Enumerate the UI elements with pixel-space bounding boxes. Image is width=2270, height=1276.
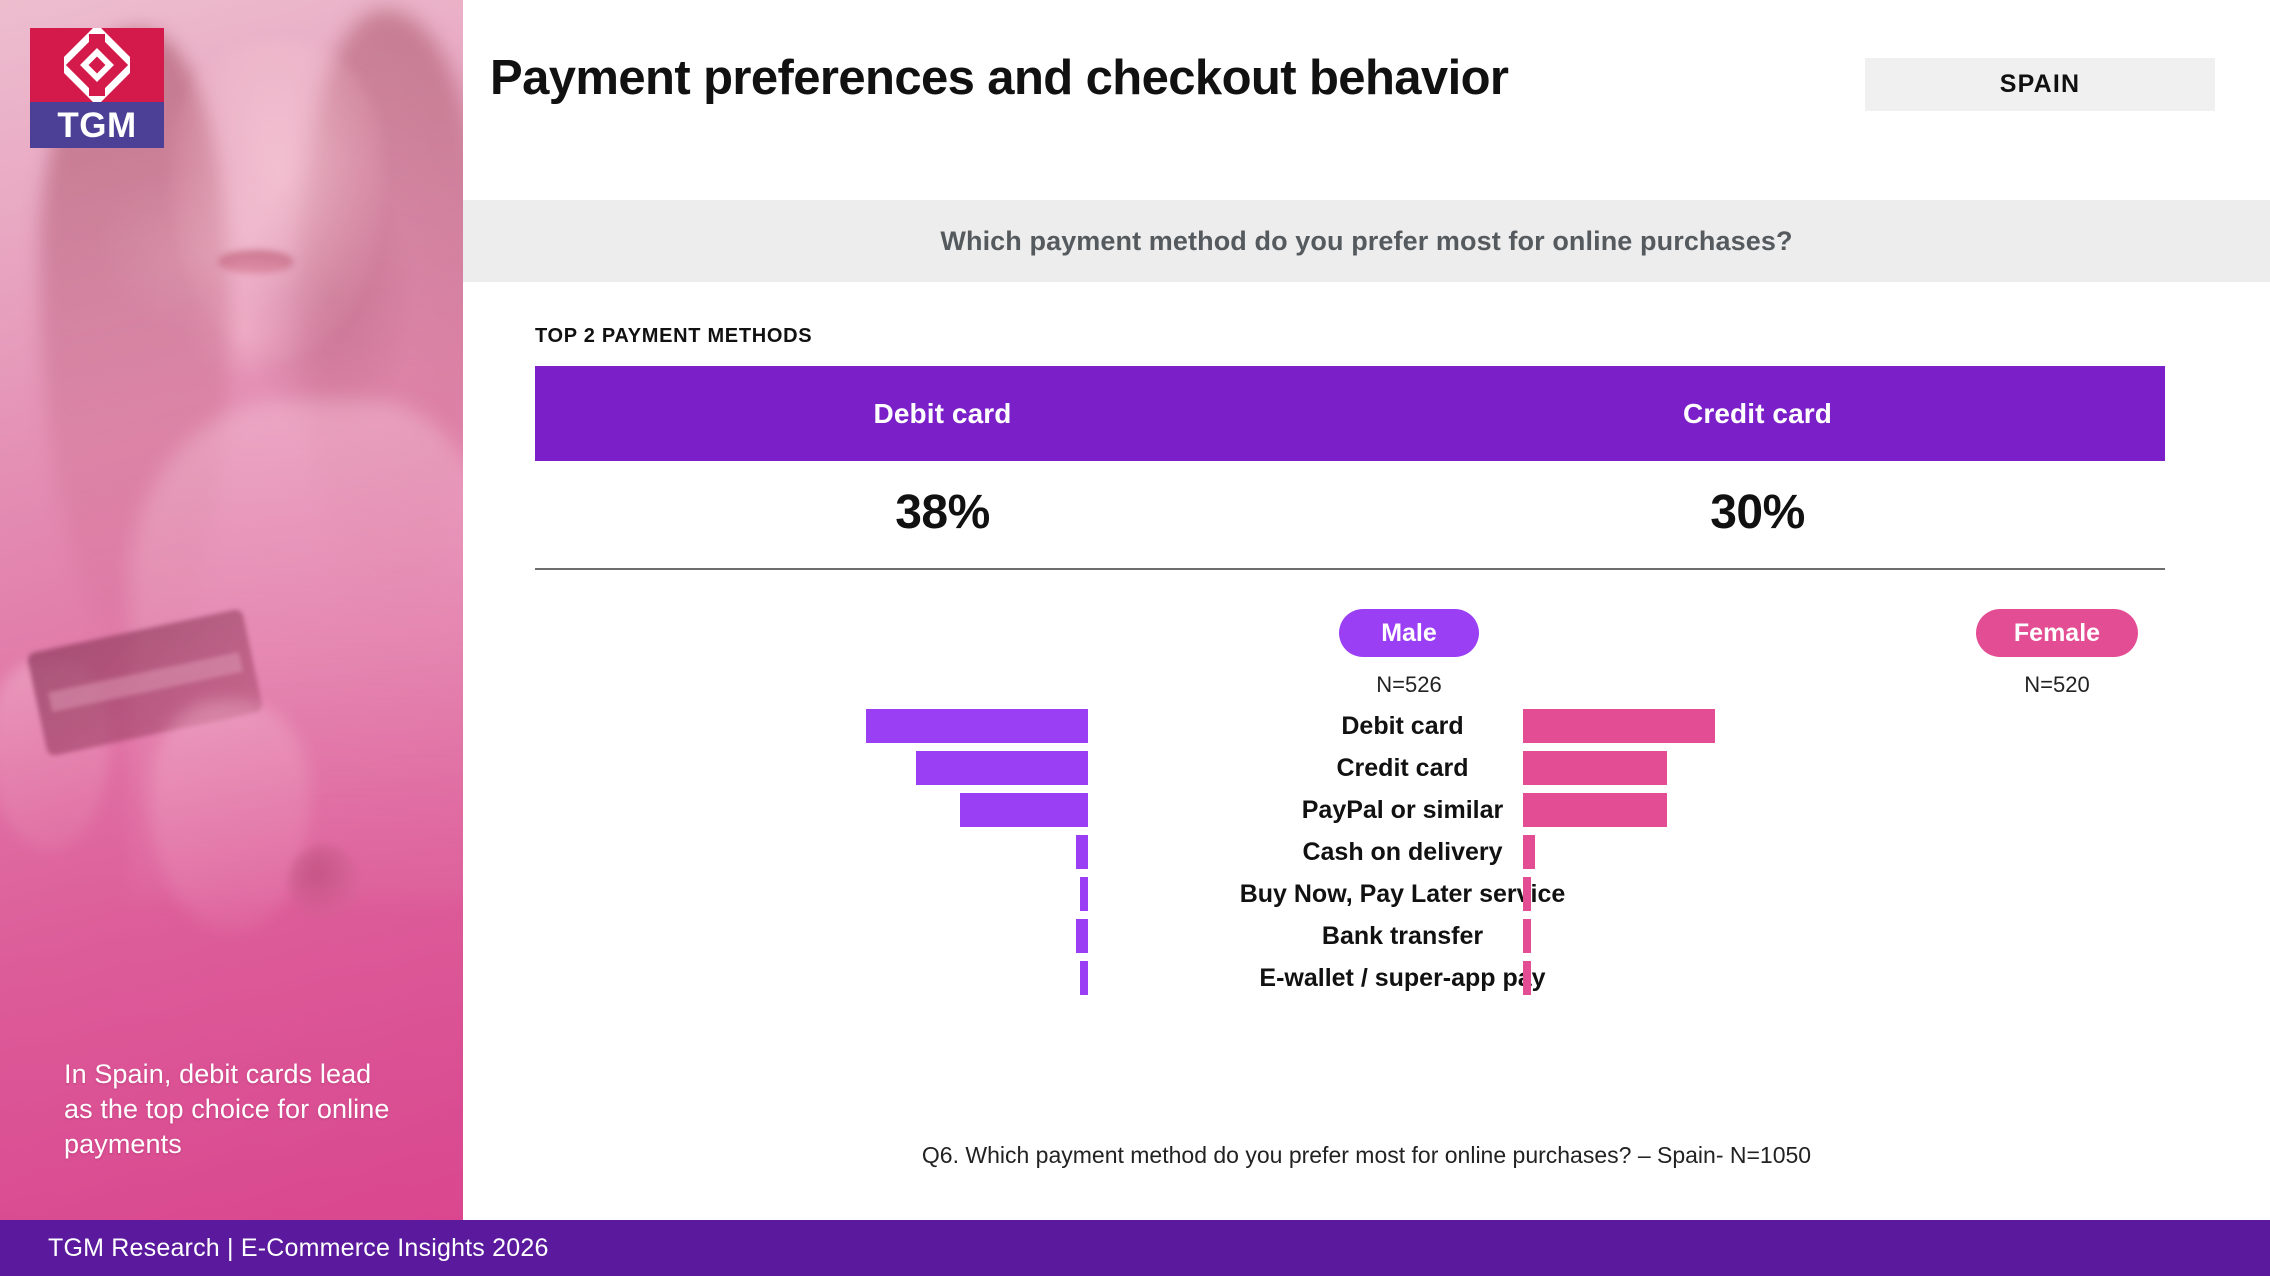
logo-emblem-box xyxy=(30,28,164,102)
bar-male xyxy=(960,793,1088,827)
bar-male xyxy=(916,751,1088,785)
chart-row: Cash on delivery xyxy=(463,831,2270,873)
bar-female xyxy=(1523,919,1531,953)
bar-female-wrap xyxy=(1523,705,1715,747)
bar-male-wrap xyxy=(1080,873,1088,915)
source-note: Q6. Which payment method do you prefer m… xyxy=(463,1142,2270,1169)
top2-cell-1: Debit card xyxy=(535,366,1350,461)
logo-wordmark-box: TGM xyxy=(30,102,164,148)
photo-pink-overlay xyxy=(0,0,463,1220)
top2-value-cell-2: 30% xyxy=(1350,471,2165,553)
bar-male xyxy=(1080,961,1088,995)
bar-female-wrap xyxy=(1523,789,1667,831)
bar-female xyxy=(1523,835,1535,869)
chart-category-label: Cash on delivery xyxy=(1100,831,1705,873)
chart-category-label: E-wallet / super-app pay xyxy=(1100,957,1705,999)
logo-notch-top xyxy=(89,34,105,43)
bar-male xyxy=(1080,877,1088,911)
legend-female-n: N=520 xyxy=(1976,672,2138,698)
bar-female-wrap xyxy=(1523,915,1531,957)
bar-male-wrap xyxy=(866,705,1088,747)
top2-cell-2: Credit card xyxy=(1350,366,2165,461)
bar-female xyxy=(1523,877,1531,911)
bar-male xyxy=(1076,835,1088,869)
footer-text: TGM Research | E-Commerce Insights 2026 xyxy=(48,1234,549,1263)
question-text: Which payment method do you prefer most … xyxy=(940,226,1792,257)
main-content: Payment preferences and checkout behavio… xyxy=(463,0,2270,1220)
logo-notch-bottom xyxy=(89,87,105,96)
bar-male-wrap xyxy=(1076,831,1088,873)
bar-female-wrap xyxy=(1523,957,1531,999)
chart-category-label: Bank transfer xyxy=(1100,915,1705,957)
bar-female-wrap xyxy=(1523,873,1531,915)
question-band: Which payment method do you prefer most … xyxy=(463,200,2270,282)
bar-male-wrap xyxy=(916,747,1088,789)
tornado-chart: Debit cardCredit cardPayPal or similarCa… xyxy=(463,705,2270,1105)
left-panel-caption: In Spain, debit cards lead as the top ch… xyxy=(64,1057,404,1162)
chart-row: Credit card xyxy=(463,747,2270,789)
country-badge-label: SPAIN xyxy=(2000,70,2081,99)
bar-male-wrap xyxy=(1076,915,1088,957)
legend-pill-female-label: Female xyxy=(2014,619,2100,648)
top2-value-cell-1: 38% xyxy=(535,471,1350,553)
chart-row: Debit card xyxy=(463,705,2270,747)
top2-label-2: Credit card xyxy=(1683,398,1832,430)
chart-row: Bank transfer xyxy=(463,915,2270,957)
section-label-top2: TOP 2 PAYMENT METHODS xyxy=(535,325,812,348)
page-title: Payment preferences and checkout behavio… xyxy=(490,50,1508,106)
legend-pill-male-label: Male xyxy=(1381,619,1437,648)
logo-notch-right xyxy=(130,57,139,73)
chart-row: E-wallet / super-app pay xyxy=(463,957,2270,999)
legend-pill-female: Female xyxy=(1976,609,2138,657)
legend-male-n: N=526 xyxy=(1339,672,1479,698)
left-image-panel: TGM In Spain, debit cards lead as the to… xyxy=(0,0,463,1220)
bar-female xyxy=(1523,751,1667,785)
bar-male-wrap xyxy=(960,789,1088,831)
bar-male xyxy=(866,709,1088,743)
section-divider xyxy=(535,568,2165,570)
bar-male xyxy=(1076,919,1088,953)
top2-label-1: Debit card xyxy=(874,398,1012,430)
bar-male-wrap xyxy=(1080,957,1088,999)
top2-values-row: 38% 30% xyxy=(535,471,2165,553)
chart-row: PayPal or similar xyxy=(463,789,2270,831)
bar-female xyxy=(1523,793,1667,827)
bar-female-wrap xyxy=(1523,831,1535,873)
top2-value-2: 30% xyxy=(1710,485,1805,540)
bar-female xyxy=(1523,709,1715,743)
tgm-logo: TGM xyxy=(30,28,164,148)
top2-value-1: 38% xyxy=(895,485,990,540)
top2-header-band: Debit card Credit card xyxy=(535,366,2165,461)
chart-category-label: Buy Now, Pay Later service xyxy=(1100,873,1705,915)
logo-wordmark: TGM xyxy=(57,108,136,143)
bar-female xyxy=(1523,961,1531,995)
chart-row: Buy Now, Pay Later service xyxy=(463,873,2270,915)
legend-pill-male: Male xyxy=(1339,609,1479,657)
footer-bar: TGM Research | E-Commerce Insights 2026 xyxy=(0,1220,2270,1276)
country-badge: SPAIN xyxy=(1865,58,2215,111)
logo-notch-left xyxy=(55,57,64,73)
bar-female-wrap xyxy=(1523,747,1667,789)
